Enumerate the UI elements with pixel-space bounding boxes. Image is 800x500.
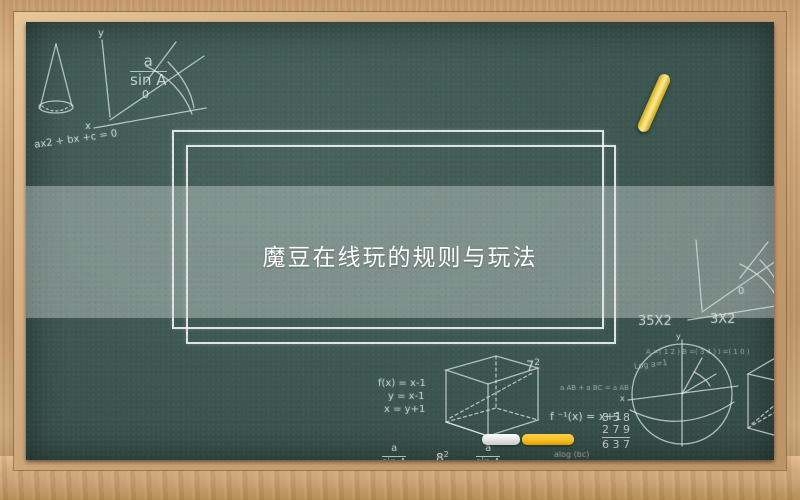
fraction-a-over-sinA-topleft: a sin A [130,54,167,89]
angle-label-topleft: 0 [142,88,149,101]
fraction-a-over-sinA-bl2: a sin A [476,444,500,460]
fraction-a-over-sinA-bl1: a sin A [382,444,406,460]
angle-label-right: 0 [738,286,744,297]
alog-bc-label: alog (bc) [554,450,589,459]
matrix-expression: A =( 1 2 ) B =( 3 4 ) I =( 1 0 ) [646,348,750,356]
yellow-chalk-stick [522,434,574,445]
cube-diagram-right [748,354,774,440]
sum-result: 6 3 7 [602,439,630,451]
function-line-2: y = x-1 [388,391,425,402]
chalkboard-banner: a sin A y x 0 ax2 + bx +c = 0 f(x) = x-1… [0,0,800,500]
white-chalk-stick [482,434,520,445]
expr-ab-bc: a AB + a BC = a AB [560,384,629,392]
exponent-seven-squared: 72 [526,358,540,374]
addend-2: 2 7 9 [602,424,630,436]
function-line-3: x = y+1 [384,404,425,415]
addition-problem: 3 5 8 2 7 9 6 3 7 [602,412,630,451]
axis-label-y-topleft: y [98,28,104,39]
cube-diagram-left [446,356,538,436]
axis-label-y-circle: y [676,332,681,341]
function-line-1: f(x) = x-1 [378,378,426,389]
page-title: 魔豆在线玩的规则与玩法 [26,238,774,272]
axis-label-x-topleft: x [85,121,91,132]
square-eight: 82 [436,450,449,460]
multiplication-3x2: 3X2 [710,312,735,327]
cone-diagram [39,44,73,113]
multiplication-35x2: 35X2 [638,314,672,329]
axis-label-x-circle: x [620,394,625,403]
